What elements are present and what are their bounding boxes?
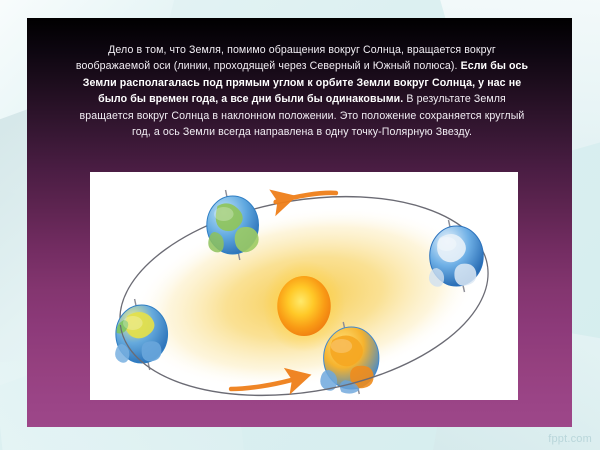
watermark-fppt: fppt.com [548,433,592,445]
paragraph-segment: Дело в том, что Земля, помимо обращения … [76,44,496,72]
earth-orbit-svg [90,172,518,400]
slide-canvas: Дело в том, что Земля, помимо обращения … [0,0,600,450]
content-panel: Дело в том, что Земля, помимо обращения … [27,18,572,427]
sun [263,260,345,352]
earth-orbit-figure [90,172,518,400]
earth-top [207,190,259,260]
body-paragraph: Дело в том, что Земля, помимо обращения … [72,42,532,140]
